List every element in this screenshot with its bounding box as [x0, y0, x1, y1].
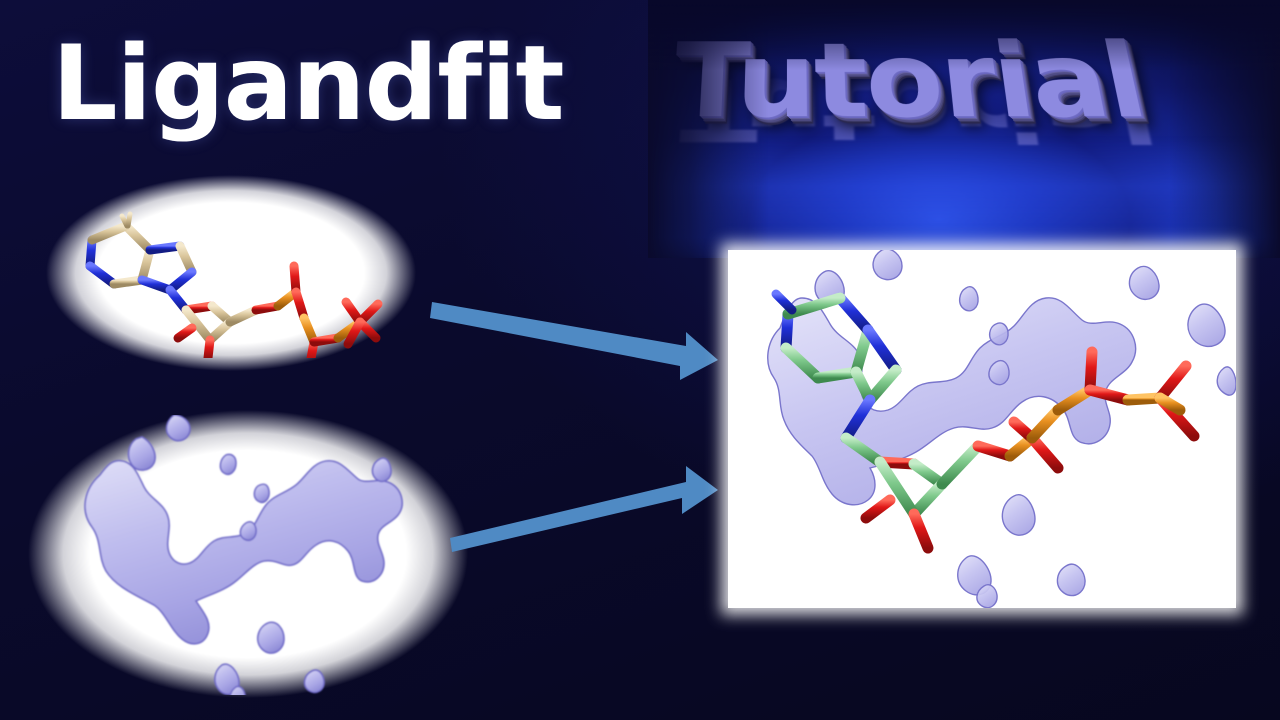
banner-fade-top: [648, 0, 1280, 70]
fitted-ligand-diagram: [728, 250, 1236, 608]
arrow-density-to-result: [448, 452, 720, 556]
page-title: Ligandfit: [52, 24, 564, 146]
ligand-molecule-diagram: [70, 188, 400, 358]
slide-root: Tutorial Tutorial Ligandfit: [0, 0, 1280, 720]
tutorial-banner: Tutorial Tutorial: [648, 0, 1280, 258]
arrow-ligand-to-result: [430, 288, 720, 388]
electron-density-blob: [40, 415, 460, 695]
